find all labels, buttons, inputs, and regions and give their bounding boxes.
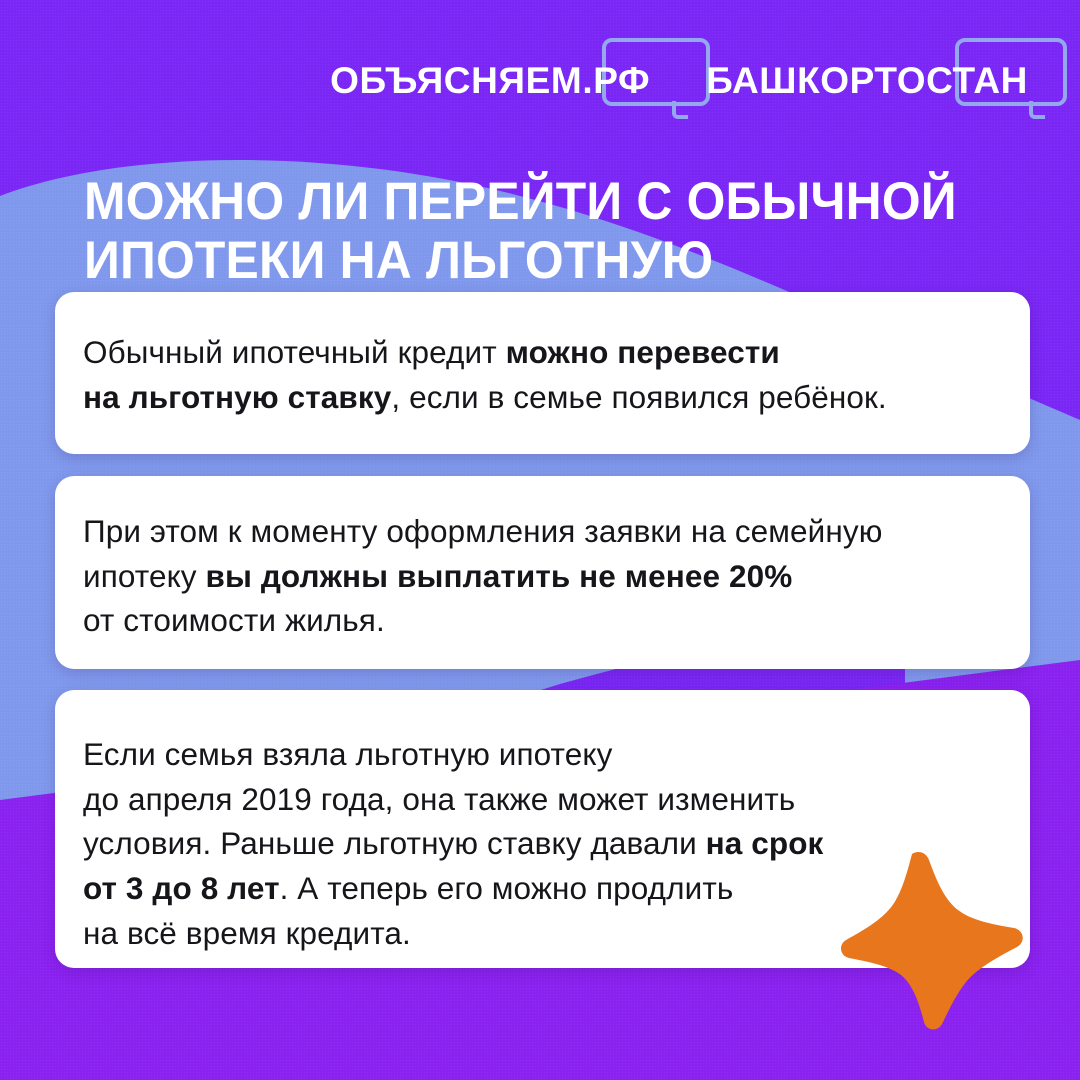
brand-wordmark: ОБЪЯСНЯЕМ.РФ xyxy=(330,62,650,99)
page-title-line-2: ИПОТЕКИ НА ЛЬГОТНУЮ xyxy=(84,231,949,290)
info-card: При этом к моменту оформления заявки на … xyxy=(55,476,1030,669)
infographic-poster: ОБЪЯСНЯЕМ.РФ БАШКОРТОСТАН МОЖНО ЛИ ПЕРЕЙ… xyxy=(0,0,1080,1080)
info-card-text: Обычный ипотечный кредит можно перевести… xyxy=(83,330,1008,419)
star-shape xyxy=(841,852,1023,1029)
page-title: МОЖНО ЛИ ПЕРЕЙТИ С ОБЫЧНОЙ ИПОТЕКИ НА ЛЬ… xyxy=(84,172,949,291)
info-card: Обычный ипотечный кредит можно перевести… xyxy=(55,292,1030,454)
header-logo-row: ОБЪЯСНЯЕМ.РФ БАШКОРТОСТАН xyxy=(0,40,1080,120)
info-card-text: При этом к моменту оформления заявки на … xyxy=(83,509,1014,643)
four-point-star-icon xyxy=(838,848,1028,1030)
logo-unit: ОБЪЯСНЯЕМ.РФ БАШКОРТОСТАН xyxy=(330,40,1080,120)
page-title-line-1: МОЖНО ЛИ ПЕРЕЙТИ С ОБЫЧНОЙ xyxy=(84,172,949,231)
region-wordmark: БАШКОРТОСТАН xyxy=(706,62,1028,99)
